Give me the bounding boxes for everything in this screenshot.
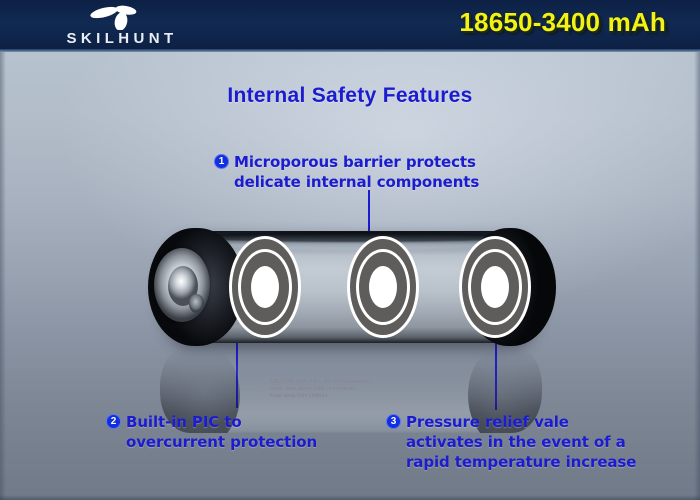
safety-marker-ring-2-mid bbox=[359, 252, 407, 322]
callout-1-number: 1 bbox=[214, 154, 229, 169]
positive-terminal-inner bbox=[168, 266, 198, 306]
slide-canvas: SKILHUNT 18650-3400 mAh Internal Safety … bbox=[0, 0, 700, 500]
safety-marker-ring-1 bbox=[232, 239, 298, 335]
cell-highlight bbox=[190, 234, 520, 250]
callout-2-text: Built-in PIC toovercurrent protection bbox=[126, 412, 317, 452]
safety-marker-ring-2 bbox=[350, 239, 416, 335]
battery-illustration bbox=[160, 231, 542, 343]
callout-3-line-1: Pressure relief vale bbox=[406, 413, 569, 431]
callout-1-line-2: delicate internal components bbox=[234, 173, 479, 191]
callout-1-text: Microporous barrier protectsdelicate int… bbox=[234, 152, 479, 192]
callout-3-line-3: rapid temperature increase bbox=[406, 453, 636, 471]
bottom-edge-shade bbox=[0, 495, 700, 500]
positive-terminal-button bbox=[189, 294, 204, 313]
safety-marker-ring-1-mid bbox=[241, 252, 289, 322]
safety-marker-ring-3 bbox=[462, 239, 528, 335]
callout-2-line-1: Built-in PIC to bbox=[126, 413, 242, 431]
page-title: Internal Safety Features bbox=[0, 84, 700, 108]
header-bar: SKILHUNT 18650-3400 mAh bbox=[0, 0, 700, 52]
brand-wordmark: SKILHUNT bbox=[62, 30, 182, 47]
callout-2: 2Built-in PIC toovercurrent protection bbox=[106, 412, 317, 452]
callout-3-number: 3 bbox=[386, 414, 401, 429]
safety-marker-ring-3-core bbox=[481, 266, 509, 308]
product-title: 18650-3400 mAh bbox=[459, 7, 666, 38]
right-edge-shade bbox=[694, 52, 700, 500]
safety-marker-ring-1-core bbox=[251, 266, 279, 308]
callout-3-text: Pressure relief valeactivates in the eve… bbox=[406, 412, 636, 472]
cell-positive-end bbox=[148, 228, 244, 346]
brand-logo: SKILHUNT bbox=[62, 4, 202, 50]
safety-marker-ring-3-mid bbox=[471, 252, 519, 322]
skilhunt-propeller-logo-icon bbox=[88, 4, 144, 30]
callout-3: 3Pressure relief valeactivates in the ev… bbox=[386, 412, 636, 472]
positive-terminal bbox=[154, 248, 210, 322]
callout-2-line-2: overcurrent protection bbox=[126, 433, 317, 451]
callout-1: 1Microporous barrier protectsdelicate in… bbox=[214, 152, 479, 192]
left-edge-shade bbox=[0, 52, 6, 500]
callout-2-number: 2 bbox=[106, 414, 121, 429]
callout-3-line-2: activates in the event of a bbox=[406, 433, 626, 451]
safety-marker-ring-2-core bbox=[369, 266, 397, 308]
callout-1-line-1: Microporous barrier protects bbox=[234, 153, 476, 171]
